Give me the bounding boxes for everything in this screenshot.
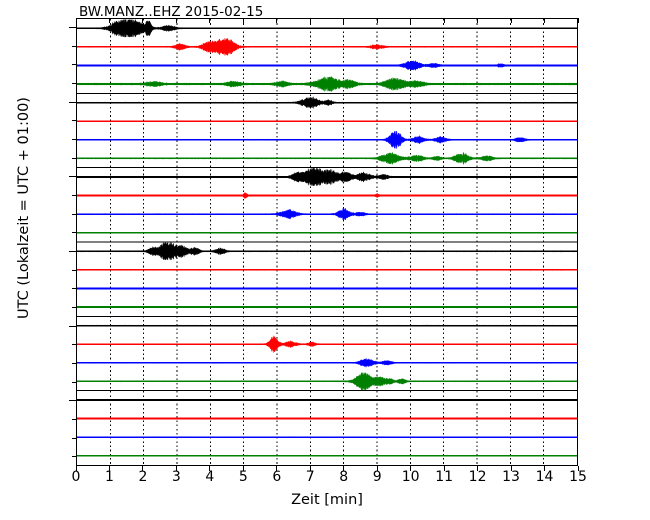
x-tick-mark-top — [477, 18, 478, 23]
x-tick-label-9: 9 — [373, 469, 382, 485]
x-axis-ticks: 0123456789101112131415 — [0, 0, 650, 520]
x-tick-mark-top — [511, 18, 512, 23]
x-tick-mark-top — [109, 18, 110, 23]
x-tick-mark-top — [243, 18, 244, 23]
x-tick-label-8: 8 — [339, 469, 348, 485]
x-tick-label-14: 14 — [536, 469, 554, 485]
x-tick-mark-top — [142, 18, 143, 23]
x-tick-label-12: 12 — [469, 469, 487, 485]
x-tick-label-10: 10 — [402, 469, 420, 485]
x-tick-mark-top — [310, 18, 311, 23]
x-tick-label-13: 13 — [502, 469, 520, 485]
x-tick-mark-top — [444, 18, 445, 23]
x-tick-label-11: 11 — [435, 469, 453, 485]
x-tick-mark-top — [544, 18, 545, 23]
y-axis-label: UTC (Lokalzeit = UTC + 01:00) — [16, 0, 32, 418]
x-tick-label-1: 1 — [105, 469, 114, 485]
x-tick-label-6: 6 — [272, 469, 281, 485]
x-tick-label-4: 4 — [205, 469, 214, 485]
x-tick-label-7: 7 — [306, 469, 315, 485]
x-tick-mark-top — [377, 18, 378, 23]
x-tick-mark-top — [410, 18, 411, 23]
x-tick-label-3: 3 — [172, 469, 181, 485]
x-tick-mark-top — [176, 18, 177, 23]
x-tick-mark-top — [276, 18, 277, 23]
x-tick-label-2: 2 — [138, 469, 147, 485]
x-tick-mark-top — [76, 18, 77, 23]
x-tick-label-0: 0 — [72, 469, 81, 485]
x-tick-label-5: 5 — [239, 469, 248, 485]
x-tick-mark-top — [343, 18, 344, 23]
x-tick-label-15: 15 — [569, 469, 587, 485]
seismogram-figure: BW.MANZ..EHZ 2015-02-15 18:0019:0020:002… — [0, 0, 650, 520]
x-tick-mark-top — [578, 18, 579, 23]
x-tick-mark-top — [209, 18, 210, 23]
x-axis-label: Zeit [min] — [76, 492, 578, 508]
